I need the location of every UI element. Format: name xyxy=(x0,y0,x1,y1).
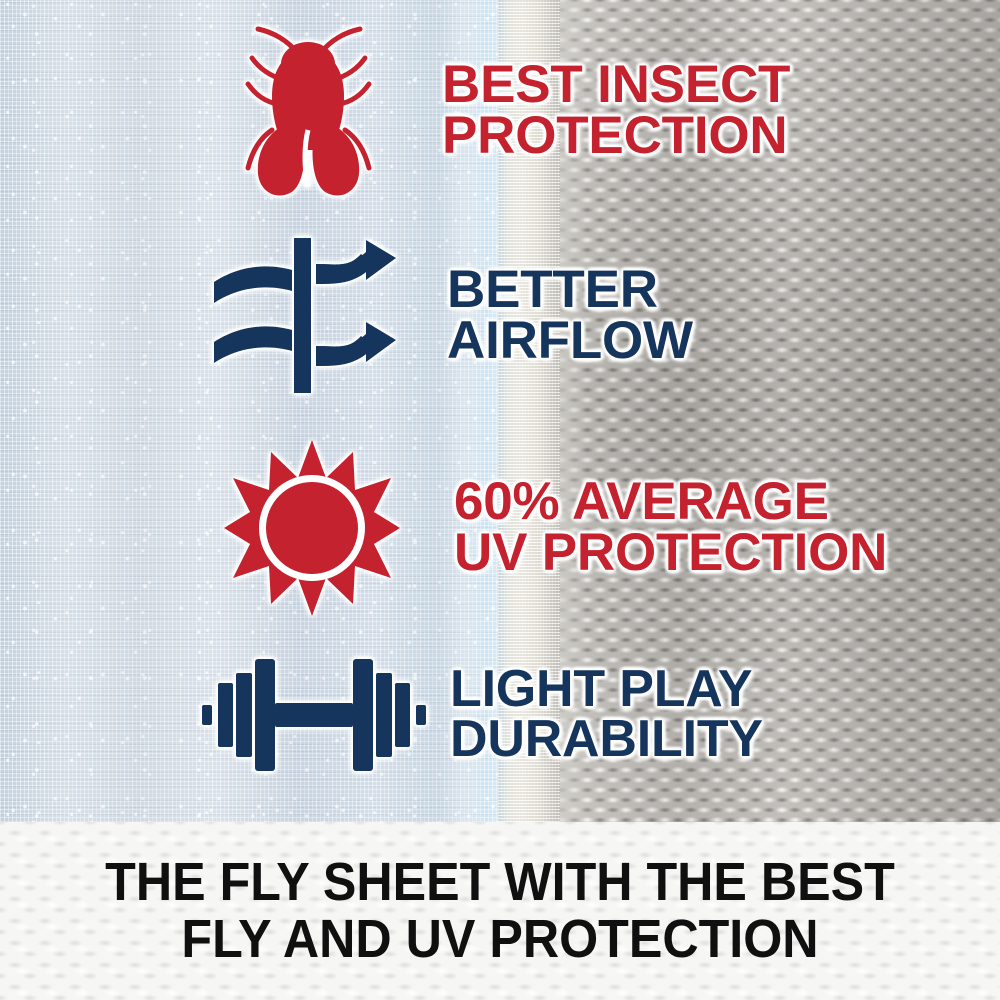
feature-row-airflow: BETTER AIRFLOW xyxy=(206,238,693,393)
fly-icon-container xyxy=(232,18,384,203)
caption-line-1: THE FLY SHEET WITH THE BEST xyxy=(105,854,895,911)
feature-row-insect-protection: BEST INSECT PROTECTION xyxy=(232,18,790,203)
sun-icon xyxy=(222,438,402,618)
feature-row-durability: LIGHT PLAY DURABILITY xyxy=(200,655,763,775)
dumbbell-icon-container xyxy=(200,655,428,775)
feature-label-durability: LIGHT PLAY DURABILITY xyxy=(450,665,763,765)
feature-label-insect-protection: BEST INSECT PROTECTION xyxy=(442,60,790,162)
feature-row-uv-protection: 60% AVERAGE UV PROTECTION xyxy=(222,438,887,618)
airflow-icon xyxy=(206,238,421,393)
fly-icon xyxy=(232,18,384,203)
airflow-icon-container xyxy=(206,238,421,393)
caption-text-block: THE FLY SHEET WITH THE BEST FLY AND UV P… xyxy=(35,822,965,1000)
feature-label-uv-protection: 60% AVERAGE UV PROTECTION xyxy=(454,477,887,579)
caption-line-2: FLY AND UV PROTECTION xyxy=(181,911,818,968)
infographic-stage: BEST INSECT PROTECTION BETTER AIRFLOW xyxy=(0,0,1000,1000)
dumbbell-icon xyxy=(200,655,428,775)
caption-bar: THE FLY SHEET WITH THE BEST FLY AND UV P… xyxy=(0,822,1000,1000)
feature-label-airflow: BETTER AIRFLOW xyxy=(447,265,693,367)
sun-icon-container xyxy=(222,438,402,618)
